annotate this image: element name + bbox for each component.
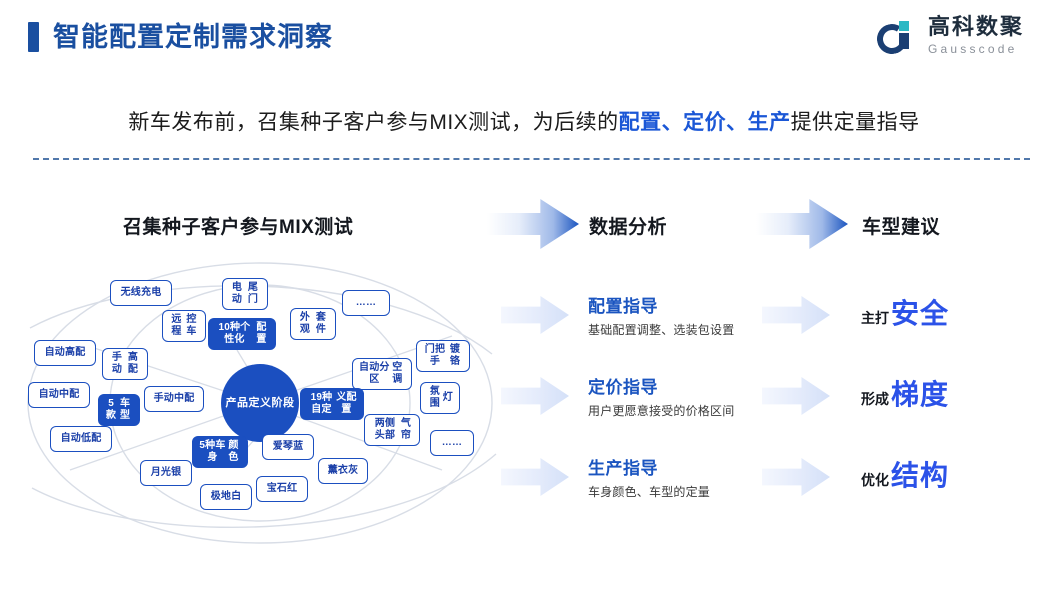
mindmap-node-label: 远程: [169, 314, 184, 338]
suggestion-keyword: 梯度: [891, 379, 949, 411]
brand-logo: 高科数聚 Gausscode: [877, 16, 1024, 60]
logo-square-teal: [899, 21, 909, 31]
page-title: 智能配置定制需求洞察: [28, 22, 333, 52]
mindmap-hub-line: 产品: [226, 396, 249, 410]
suggestion-item-safety: 主打 安全: [861, 298, 949, 330]
mindmap-node-label: 灯: [443, 392, 453, 404]
mindmap-node-label: 颜色: [226, 440, 241, 464]
mindmap-node-label: 氛围: [427, 386, 443, 410]
mindmap-diagram: 产品定义阶段 无线充电电动尾门……远程控车10种个性化配置外观套件门把手镀铬自动…: [22, 258, 502, 548]
stage-header-collect: 召集种子客户参与MIX测试: [123, 212, 353, 239]
mindmap-node[interactable]: 极地白: [200, 484, 252, 510]
flow-arrow-2-icon: [756, 199, 848, 249]
flow-arrow-1-icon: [487, 199, 579, 249]
mindmap-node-label: 19种自定: [307, 392, 336, 416]
stage-header-analysis: 数据分析: [589, 212, 667, 239]
mindmap-node-label: 手动中配: [154, 393, 195, 405]
subtitle-part2: 提供定量指导: [791, 111, 920, 134]
suggestion-prefix: 优化: [861, 470, 889, 490]
mindmap-node[interactable]: 两侧头部气帘: [364, 414, 420, 446]
mindmap-node-label: 门把手: [423, 344, 447, 368]
mindmap-node-label: 爱琴蓝: [273, 441, 304, 453]
analysis-item-config: 配置指导 基础配置调整、选装包设置: [588, 296, 734, 338]
mindmap-node[interactable]: 5款车型: [98, 394, 140, 426]
mindmap-node-label: 手动: [109, 352, 125, 376]
stage-header-suggestion: 车型建议: [862, 212, 940, 239]
mindmap-node-label: 空调: [390, 362, 405, 386]
mindmap-node[interactable]: 爱琴蓝: [262, 434, 314, 460]
mindmap-node[interactable]: 手动中配: [144, 386, 204, 412]
mindmap-node[interactable]: 自动低配: [50, 426, 112, 452]
row-arrow-left-1-icon: [501, 296, 569, 334]
row-arrow-right-2-icon: [762, 377, 830, 415]
logo-square-navy: [899, 33, 909, 49]
mindmap-hub: 产品定义阶段: [221, 364, 299, 442]
mindmap-node-label: 自动分区: [359, 362, 390, 386]
mindmap-hub-line: 定义阶段: [249, 396, 295, 410]
mindmap-node[interactable]: 自动分区空调: [352, 358, 412, 390]
analysis-desc: 用户更愿意接受的价格区间: [588, 403, 734, 419]
mindmap-node[interactable]: 月光银: [140, 460, 192, 486]
mindmap-node-label: 宝石红: [267, 483, 298, 495]
row-arrow-right-3-icon: [762, 458, 830, 496]
analysis-title: 定价指导: [588, 377, 734, 399]
mindmap-node-label: 自动高配: [45, 347, 86, 359]
suggestion-prefix: 主打: [861, 308, 889, 328]
row-arrow-left-2-icon: [501, 377, 569, 415]
logo-name-cn: 高科数聚: [928, 16, 1024, 38]
mindmap-node[interactable]: 10种个性化配置: [208, 318, 276, 350]
mindmap-node-label: 5款: [105, 398, 117, 422]
mindmap-node-label: 外观: [297, 312, 313, 336]
mindmap-node[interactable]: 19种自定义配置: [300, 388, 364, 420]
mindmap-node-label: 无线充电: [121, 287, 162, 299]
slide: 智能配置定制需求洞察 高科数聚 Gausscode 新车发布前，召集种子客户参与…: [0, 0, 1048, 589]
mindmap-node-label: 气帘: [399, 418, 413, 442]
mindmap-node-label: 配置: [254, 322, 269, 346]
mindmap-node[interactable]: 手动高配: [102, 348, 148, 380]
title-accent-bar: [28, 22, 39, 52]
mindmap-node-label: 极地白: [211, 491, 242, 503]
subtitle-part1: 新车发布前，召集种子客户参与MIX测试，为后续的: [128, 111, 618, 134]
mindmap-node[interactable]: ……: [342, 290, 390, 316]
mindmap-node-label: 控车: [184, 314, 199, 338]
analysis-item-production: 生产指导 车身颜色、车型的定量: [588, 458, 710, 500]
mindmap-node[interactable]: 外观套件: [290, 308, 336, 340]
mindmap-node[interactable]: 5种车身颜色: [192, 436, 248, 468]
suggestion-item-structure: 优化 结构: [861, 460, 949, 492]
suggestion-item-gradient: 形成 梯度: [861, 379, 949, 411]
subtitle: 新车发布前，召集种子客户参与MIX测试，为后续的配置、定价、生产提供定量指导: [0, 106, 1048, 136]
mindmap-node[interactable]: ……: [430, 430, 474, 456]
logo-text: 高科数聚 Gausscode: [928, 16, 1024, 55]
logo-mark-icon: [877, 18, 919, 60]
mindmap-node-label: 车型: [117, 398, 133, 422]
mindmap-node-label: 高配: [125, 352, 141, 376]
analysis-desc: 车身颜色、车型的定量: [588, 484, 710, 500]
mindmap-node[interactable]: 自动高配: [34, 340, 96, 366]
mindmap-node-label: 5种车身: [199, 440, 226, 464]
mindmap-node-label: 薰衣灰: [328, 465, 359, 477]
mindmap-node-label: 10种个性化: [215, 322, 254, 346]
mindmap-node-label: 自动低配: [61, 433, 102, 445]
section-divider: [33, 158, 1030, 160]
subtitle-highlight: 配置、定价、生产: [619, 111, 791, 134]
mindmap-node[interactable]: 宝石红: [256, 476, 308, 502]
mindmap-node-label: 尾门: [245, 282, 261, 306]
row-arrow-left-3-icon: [501, 458, 569, 496]
analysis-title: 生产指导: [588, 458, 710, 480]
mindmap-node-label: 套件: [313, 312, 329, 336]
suggestion-prefix: 形成: [861, 389, 889, 409]
logo-name-en: Gausscode: [928, 43, 1024, 55]
mindmap-node-label: 镀铬: [447, 344, 463, 368]
row-arrow-right-1-icon: [762, 296, 830, 334]
mindmap-node-label: 义配置: [336, 392, 357, 416]
mindmap-node[interactable]: 薰衣灰: [318, 458, 368, 484]
mindmap-node-label: 自动中配: [39, 389, 80, 401]
mindmap-node[interactable]: 门把手镀铬: [416, 340, 470, 372]
mindmap-node-label: ……: [442, 437, 462, 449]
mindmap-node[interactable]: 远程控车: [162, 310, 206, 342]
mindmap-node-label: 月光银: [151, 467, 182, 479]
analysis-title: 配置指导: [588, 296, 734, 318]
analysis-item-pricing: 定价指导 用户更愿意接受的价格区间: [588, 377, 734, 419]
mindmap-node[interactable]: 电动尾门: [222, 278, 268, 310]
mindmap-node[interactable]: 自动中配: [28, 382, 90, 408]
mindmap-node[interactable]: 氛围灯: [420, 382, 460, 414]
suggestion-keyword: 结构: [891, 460, 949, 492]
suggestion-keyword: 安全: [891, 298, 949, 330]
mindmap-node-label: 电动: [229, 282, 245, 306]
title-text: 智能配置定制需求洞察: [53, 22, 333, 52]
mindmap-node-label: 两侧头部: [371, 418, 399, 442]
analysis-desc: 基础配置调整、选装包设置: [588, 322, 734, 338]
mindmap-node[interactable]: 无线充电: [110, 280, 172, 306]
mindmap-node-label: ……: [356, 297, 376, 309]
